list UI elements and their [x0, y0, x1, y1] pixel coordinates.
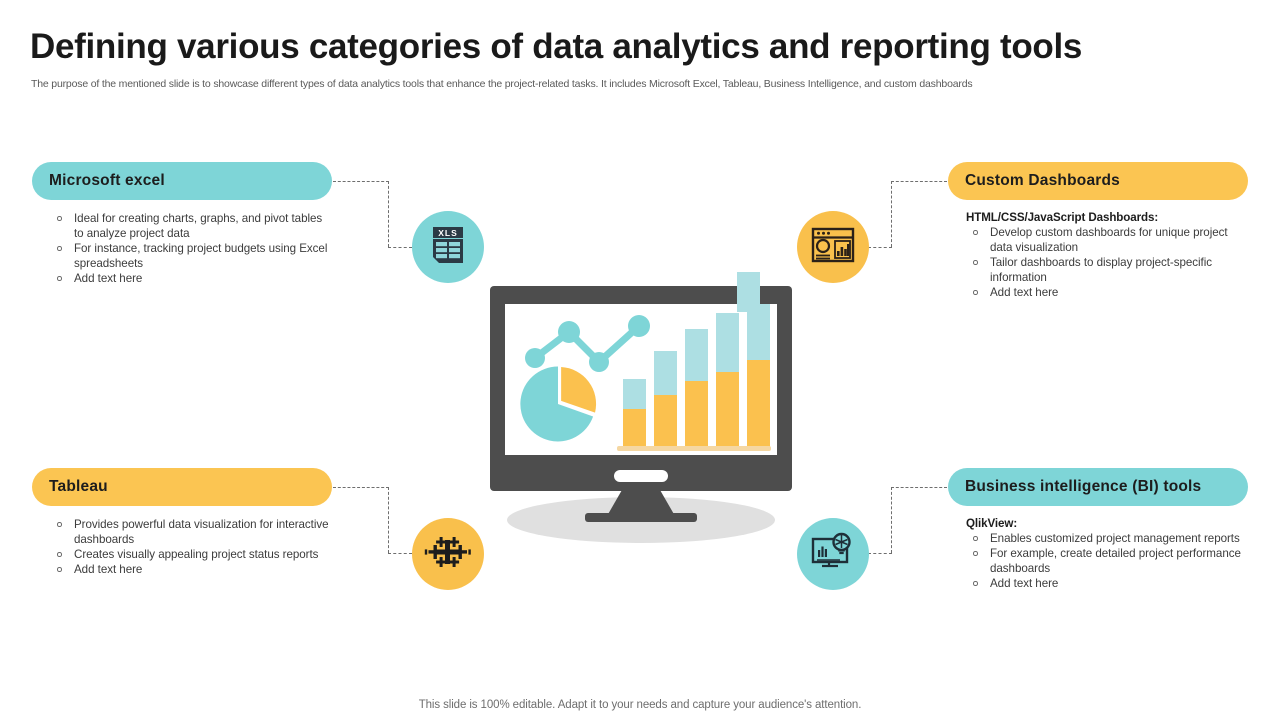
bar-5-lower — [747, 360, 770, 447]
connector-top-left-segment-2 — [388, 181, 389, 247]
list-item: For instance, tracking project budgets u… — [50, 241, 332, 271]
bar-4 — [716, 313, 739, 447]
connector-top-right-segment-1 — [868, 247, 892, 248]
list-item: Enables customized project management re… — [966, 531, 1248, 546]
bullet-list-custom-dashboards: Develop custom dashboards for unique pro… — [966, 225, 1248, 300]
chart-baseline — [617, 446, 771, 451]
icon-circle-microsoft-excel[interactable]: XLS — [412, 211, 484, 283]
bullet-list-microsoft-excel: Ideal for creating charts, graphs, and p… — [50, 211, 332, 286]
connector-bottom-left-segment-2 — [388, 487, 389, 553]
analytics-chart — [505, 304, 777, 455]
connector-bottom-right-segment-2 — [891, 487, 892, 553]
bar-5-upper — [747, 304, 770, 360]
xls-spreadsheet-icon: XLS — [428, 223, 468, 272]
connector-top-right-segment-3 — [891, 181, 947, 182]
list-item: For example, create detailed project per… — [966, 546, 1248, 576]
desktop-monitor-analytics-illustration — [485, 270, 797, 545]
connector-bottom-right-segment-1 — [868, 553, 892, 554]
card-subheading-business-intelligence: QlikView: — [966, 517, 1248, 530]
bar-1 — [623, 379, 646, 447]
card-body-business-intelligence: QlikView: Enables customized project man… — [948, 517, 1248, 591]
connector-bottom-right-segment-3 — [891, 487, 947, 488]
tableau-plus-grid-icon — [424, 532, 472, 577]
pie-chart — [519, 365, 597, 443]
list-item: Add text here — [966, 285, 1248, 300]
card-header-microsoft-excel[interactable]: Microsoft excel — [32, 162, 332, 200]
list-item: Provides powerful data visualization for… — [50, 517, 332, 547]
bullet-list-business-intelligence: Enables customized project management re… — [966, 531, 1248, 591]
card-body-tableau: Provides powerful data visualization for… — [32, 517, 332, 577]
card-body-custom-dashboards: HTML/CSS/JavaScript Dashboards: Develop … — [948, 211, 1248, 300]
card-title-custom-dashboards: Custom Dashboards — [965, 172, 1120, 190]
monitor-notch — [614, 470, 668, 482]
list-item: Add text here — [50, 562, 332, 577]
bar-4-lower — [716, 372, 739, 447]
monitor-lightbulb-icon — [810, 531, 856, 578]
bar-3-upper — [685, 329, 708, 381]
list-item: Add text here — [50, 271, 332, 286]
connector-top-left-segment-3 — [388, 247, 412, 248]
page-title: Defining various categories of data anal… — [30, 26, 1230, 68]
svg-text:XLS: XLS — [438, 228, 458, 238]
card-business-intelligence: Business intelligence (BI) tools QlikVie… — [948, 468, 1248, 591]
bar-3-lower — [685, 381, 708, 447]
icon-circle-business-intelligence[interactable] — [797, 518, 869, 590]
bar-5-overflow — [737, 272, 760, 312]
page-subtitle: The purpose of the mentioned slide is to… — [31, 77, 1211, 91]
card-title-tableau: Tableau — [49, 478, 108, 496]
card-header-business-intelligence[interactable]: Business intelligence (BI) tools — [948, 468, 1248, 506]
card-microsoft-excel: Microsoft excel Ideal for creating chart… — [32, 162, 332, 286]
bar-5 — [747, 304, 770, 447]
list-item: Develop custom dashboards for unique pro… — [966, 225, 1248, 255]
bar-2-upper — [654, 351, 677, 395]
monitor-base — [585, 513, 697, 522]
list-item: Add text here — [966, 576, 1248, 591]
card-subheading-custom-dashboards: HTML/CSS/JavaScript Dashboards: — [966, 211, 1248, 224]
connector-bottom-left-segment-3 — [388, 553, 412, 554]
bar-3 — [685, 329, 708, 447]
card-custom-dashboards: Custom Dashboards HTML/CSS/JavaScript Da… — [948, 162, 1248, 300]
bar-4-upper — [716, 313, 739, 372]
footer-note: This slide is 100% editable. Adapt it to… — [0, 699, 1280, 711]
list-item: Tailor dashboards to display project-spe… — [966, 255, 1248, 285]
card-title-business-intelligence: Business intelligence (BI) tools — [965, 478, 1201, 496]
bar-2 — [654, 351, 677, 447]
bullet-list-tableau: Provides powerful data visualization for… — [50, 517, 332, 577]
card-tableau: Tableau Provides powerful data visualiza… — [32, 468, 332, 577]
card-header-custom-dashboards[interactable]: Custom Dashboards — [948, 162, 1248, 200]
connector-bottom-left-segment-1 — [333, 487, 389, 488]
card-title-microsoft-excel: Microsoft excel — [49, 172, 165, 190]
list-item: Creates visually appealing project statu… — [50, 547, 332, 562]
bar-2-lower — [654, 395, 677, 447]
monitor-screen — [505, 304, 777, 455]
card-body-microsoft-excel: Ideal for creating charts, graphs, and p… — [32, 211, 332, 286]
connector-top-right-segment-2 — [891, 181, 892, 247]
list-item: Ideal for creating charts, graphs, and p… — [50, 211, 332, 241]
icon-circle-custom-dashboards[interactable] — [797, 211, 869, 283]
connector-top-left-segment-1 — [333, 181, 389, 182]
dashboard-window-icon — [811, 225, 855, 270]
bar-1-lower — [623, 409, 646, 447]
bar-1-upper — [623, 379, 646, 409]
card-header-tableau[interactable]: Tableau — [32, 468, 332, 506]
icon-circle-tableau[interactable] — [412, 518, 484, 590]
